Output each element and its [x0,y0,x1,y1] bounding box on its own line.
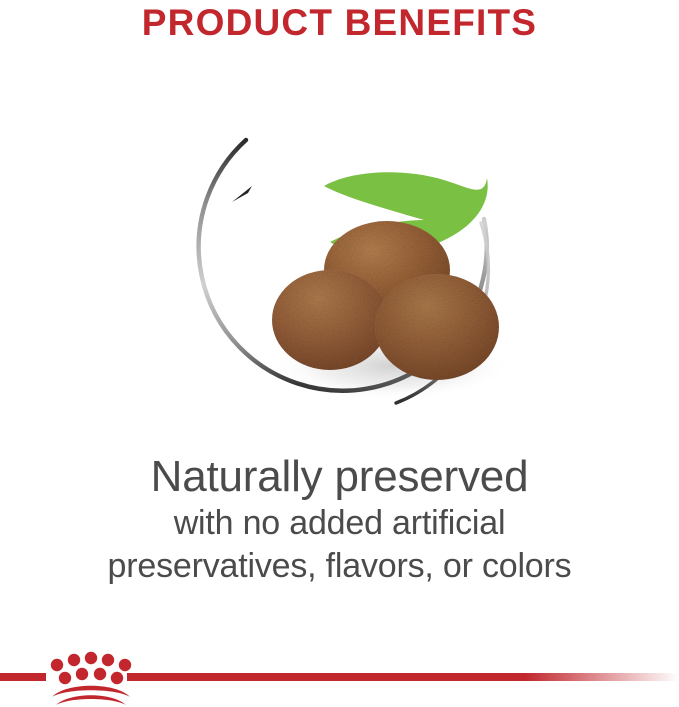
kibble-piece-right [375,274,499,380]
benefit-subline-2: preservatives, flavors, or colors [0,545,679,588]
benefit-subline-1: with no added artificial [0,502,679,545]
brand-rule-left [0,673,46,681]
brand-footer [0,645,679,707]
brand-rule-right [127,673,679,681]
kibble-piece-left [272,270,388,370]
page-title: PRODUCT BENEFITS [0,2,679,44]
illustration-svg [0,70,679,440]
benefit-illustration [0,70,679,440]
three-kibble-icon [272,221,499,380]
brand-footer-svg [0,645,679,707]
royal-canin-crown-icon [51,652,131,705]
benefit-text-block: Naturally preserved with no added artifi… [0,452,679,588]
benefit-headline: Naturally preserved [0,452,679,502]
